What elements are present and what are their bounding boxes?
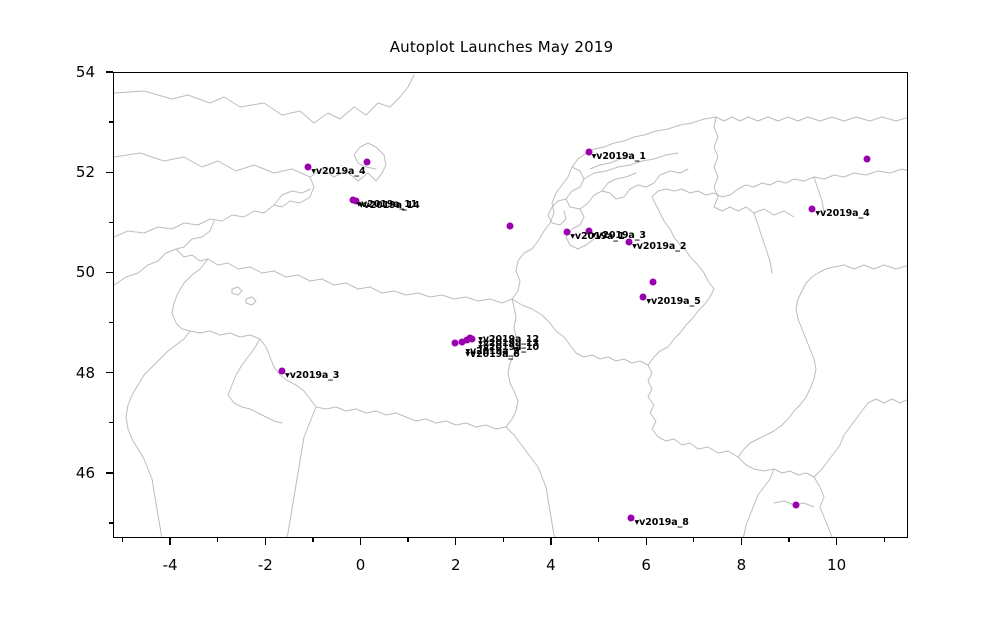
- x-axis-tick: [550, 538, 551, 545]
- y-axis-tick-label: 52: [35, 163, 95, 181]
- x-axis-minor-tick: [693, 538, 694, 542]
- x-axis-minor-tick: [312, 538, 313, 542]
- x-axis-minor-tick: [217, 538, 218, 542]
- y-axis-minor-tick: [109, 322, 113, 323]
- map-plot-area[interactable]: ▾v2019a_4▾v2019a_11▾v2019a_14▾v2019a_1▾v…: [113, 72, 908, 538]
- x-axis-tick: [169, 538, 170, 545]
- launch-marker-label: ▾v2019a_2: [632, 241, 686, 252]
- launch-marker-label: ▾v2019a_8: [634, 517, 688, 528]
- launch-marker[interactable]: [649, 279, 656, 286]
- x-axis-tick-label: -2: [235, 556, 295, 574]
- y-axis-minor-tick: [109, 121, 113, 122]
- page-title: Autoplot Launches May 2019: [0, 38, 1003, 56]
- x-axis-tick-label: 2: [426, 556, 486, 574]
- launch-marker[interactable]: [507, 222, 514, 229]
- y-axis-tick-label: 46: [35, 464, 95, 482]
- y-axis-tick-label: 54: [35, 63, 95, 81]
- y-axis-tick: [106, 272, 113, 273]
- x-axis-tick: [741, 538, 742, 545]
- x-axis-tick: [265, 538, 266, 545]
- coastline-map: [114, 73, 908, 538]
- y-axis-minor-tick: [109, 522, 113, 523]
- x-axis-tick-label: 0: [331, 556, 391, 574]
- x-axis-minor-tick: [598, 538, 599, 542]
- y-axis-tick-label: 50: [35, 263, 95, 281]
- launch-marker[interactable]: [864, 156, 871, 163]
- x-axis-tick: [360, 538, 361, 545]
- x-axis-tick-label: 8: [711, 556, 771, 574]
- y-axis-minor-tick: [109, 422, 113, 423]
- launch-marker-label: ▾v2019a_14: [359, 200, 420, 211]
- x-axis-tick: [455, 538, 456, 545]
- launch-marker-label: ▾v2019a_1: [592, 151, 646, 162]
- y-axis-minor-tick: [109, 222, 113, 223]
- launch-marker[interactable]: [452, 339, 459, 346]
- x-axis-tick: [836, 538, 837, 545]
- y-axis-tick: [106, 372, 113, 373]
- figure-canvas: Autoplot Launches May 2019: [0, 0, 1003, 633]
- y-axis-tick: [106, 472, 113, 473]
- x-axis-tick-label: 6: [616, 556, 676, 574]
- x-axis-minor-tick: [788, 538, 789, 542]
- x-axis-minor-tick: [122, 538, 123, 542]
- y-axis-tick: [106, 71, 113, 72]
- launch-marker-label: ▾v2019a_3: [285, 370, 339, 381]
- x-axis-tick: [646, 538, 647, 545]
- launch-marker-label: ▾v2019a_3: [592, 230, 646, 241]
- launch-marker-label: ▾v2019a_4: [311, 166, 365, 177]
- launch-marker-label: ▾v2019a_6: [465, 349, 519, 360]
- x-axis-minor-tick: [503, 538, 504, 542]
- x-axis-tick-label: -4: [140, 556, 200, 574]
- launch-marker[interactable]: [364, 159, 371, 166]
- launch-marker[interactable]: [792, 501, 799, 508]
- launch-marker-label: ▾v2019a_5: [646, 296, 700, 307]
- launch-marker[interactable]: [459, 338, 466, 345]
- y-axis-tick: [106, 172, 113, 173]
- x-axis-tick-label: 10: [807, 556, 867, 574]
- y-axis-tick-label: 48: [35, 364, 95, 382]
- x-axis-tick-label: 4: [521, 556, 581, 574]
- launch-marker-label: ▾v2019a_4: [815, 208, 869, 219]
- x-axis-minor-tick: [884, 538, 885, 542]
- x-axis-minor-tick: [407, 538, 408, 542]
